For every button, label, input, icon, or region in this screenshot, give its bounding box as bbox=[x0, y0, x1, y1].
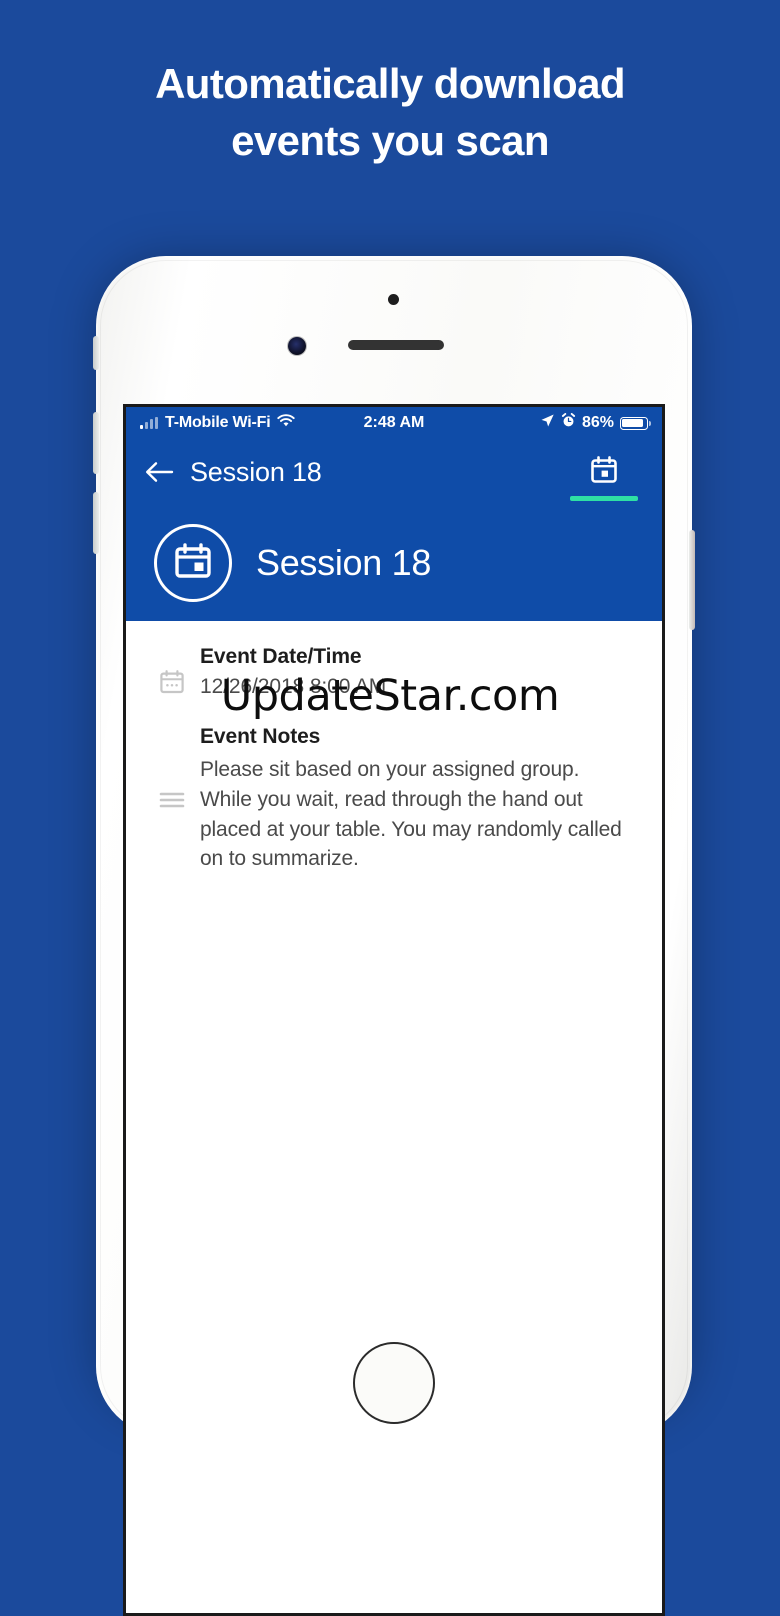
calendar-icon bbox=[172, 540, 214, 587]
volume-down-button[interactable] bbox=[93, 492, 99, 554]
field-value-event-datetime: 12/26/2018 8:00 AM bbox=[200, 675, 636, 699]
battery-icon bbox=[620, 417, 648, 430]
field-value-event-notes: Please sit based on your assigned group.… bbox=[200, 755, 636, 874]
event-header: Session 18 bbox=[126, 505, 662, 621]
field-event-datetime: Event Date/Time 12/26/2018 8:00 AM bbox=[126, 639, 662, 699]
event-details-content: Event Date/Time 12/26/2018 8:00 AM Event… bbox=[126, 621, 662, 1616]
field-event-notes: Event Notes Please sit based on your ass… bbox=[126, 699, 662, 874]
navigation-bar: Session 18 bbox=[126, 439, 662, 505]
tab-calendar[interactable] bbox=[562, 439, 646, 505]
phone-device: T-Mobile Wi-Fi 2:48 AM bbox=[96, 256, 692, 1436]
tab-active-indicator bbox=[570, 496, 638, 501]
power-button[interactable] bbox=[689, 530, 695, 630]
signal-bars-icon bbox=[140, 417, 158, 429]
status-bar-right: 86% bbox=[540, 413, 648, 433]
headline-line-1: Automatically download bbox=[155, 60, 625, 107]
carrier-label: T-Mobile Wi-Fi bbox=[165, 414, 270, 432]
proximity-sensor-icon bbox=[388, 294, 399, 305]
calendar-icon bbox=[588, 454, 620, 491]
field-label-event-datetime: Event Date/Time bbox=[200, 645, 636, 669]
page-title: Session 18 bbox=[190, 457, 322, 488]
phone-screen: T-Mobile Wi-Fi 2:48 AM bbox=[123, 404, 665, 1616]
earpiece-speaker bbox=[348, 340, 444, 350]
home-button[interactable] bbox=[353, 1342, 435, 1424]
calendar-icon bbox=[146, 645, 198, 699]
field-label-event-notes: Event Notes bbox=[200, 725, 636, 749]
battery-percent-label: 86% bbox=[582, 414, 614, 432]
location-arrow-icon bbox=[540, 413, 555, 433]
avatar bbox=[154, 524, 232, 602]
event-title: Session 18 bbox=[256, 542, 431, 584]
field-body: Event Notes Please sit based on your ass… bbox=[198, 725, 636, 874]
headline-line-2: events you scan bbox=[0, 113, 780, 170]
back-arrow-icon[interactable] bbox=[142, 455, 176, 489]
wifi-icon bbox=[277, 414, 295, 433]
promo-headline: Automatically download events you scan bbox=[0, 56, 780, 169]
mute-switch[interactable] bbox=[93, 336, 99, 370]
front-camera-icon bbox=[288, 337, 306, 355]
status-bar: T-Mobile Wi-Fi 2:48 AM bbox=[126, 407, 662, 439]
status-bar-left: T-Mobile Wi-Fi bbox=[140, 414, 295, 433]
volume-up-button[interactable] bbox=[93, 412, 99, 474]
alarm-clock-icon bbox=[561, 413, 576, 433]
field-body: Event Date/Time 12/26/2018 8:00 AM bbox=[198, 645, 636, 699]
notes-lines-icon bbox=[146, 725, 198, 874]
